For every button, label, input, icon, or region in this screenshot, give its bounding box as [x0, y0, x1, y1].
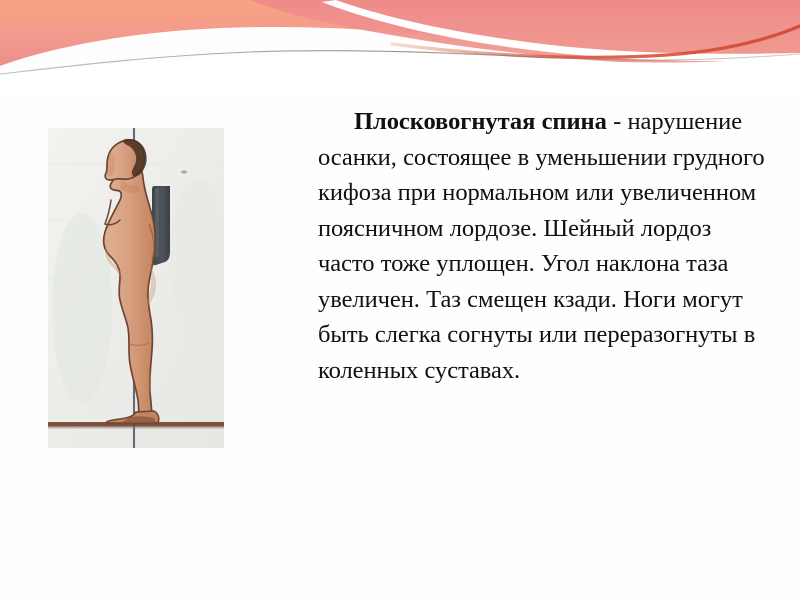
wave-bottom-fade: [0, 55, 800, 96]
term-label: Плосковогнутая спина: [354, 108, 607, 135]
slide-canvas: Плосковогнутая спина - нарушение осанки,…: [0, 0, 800, 600]
posture-illustration: [48, 128, 224, 448]
scan-tint-right: [170, 178, 224, 338]
wave-band-rose: [250, 0, 800, 65]
wave-band-primary: [0, 0, 800, 66]
scan-speck: [181, 170, 187, 173]
wave-graphic: [0, 0, 800, 96]
wave-ribbon-white: [322, 0, 800, 61]
term-dash: -: [607, 108, 628, 135]
description-text: Плосковогнутая спина - нарушение осанки,…: [318, 104, 770, 388]
header-decoration: [0, 0, 800, 96]
description-body: нарушение осанки, состоящее в уменьшении…: [318, 108, 765, 384]
posture-figure-graphic: [48, 128, 224, 448]
wave-hairline: [0, 51, 800, 74]
ground-line-shadow: [48, 427, 224, 429]
wave-accent-stroke: [392, 26, 800, 57]
